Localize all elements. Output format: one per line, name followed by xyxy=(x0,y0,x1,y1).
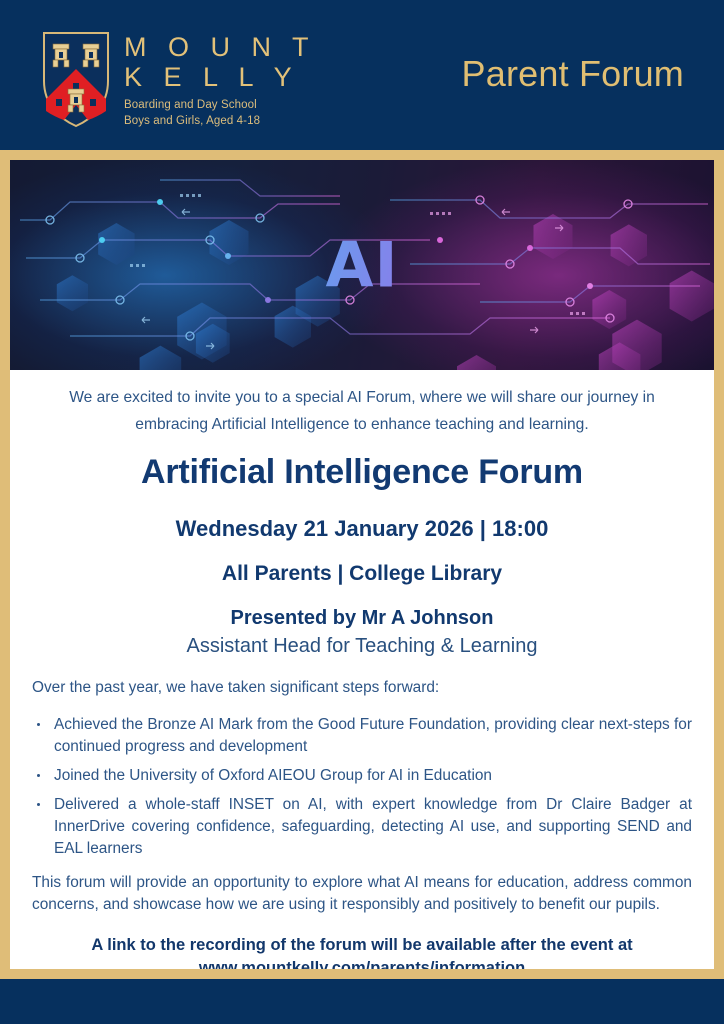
content-card: AI We are excited to invite you to a spe… xyxy=(10,160,714,969)
event-audience-venue: All Parents | College Library xyxy=(32,560,692,587)
list-item: Joined the University of Oxford AIEOU Gr… xyxy=(32,765,692,787)
event-presenter: Presented by Mr A Johnson xyxy=(32,605,692,631)
event-presenter-role: Assistant Head for Teaching & Learning xyxy=(32,633,692,659)
wordmark-tagline-2: Boys and Girls, Aged 4-18 xyxy=(124,114,316,129)
poster: M O U N T K E L L Y Boarding and Day Sch… xyxy=(0,0,724,1024)
page-footer xyxy=(0,979,724,1024)
poster-body: We are excited to invite you to a specia… xyxy=(10,370,714,969)
ai-banner-word: AI xyxy=(10,229,714,302)
closing-paragraph: This forum will provide an opportunity t… xyxy=(32,872,692,916)
intro-paragraph: We are excited to invite you to a specia… xyxy=(38,384,686,438)
event-datetime: Wednesday 21 January 2026 | 18:00 xyxy=(32,515,692,543)
ai-banner-image: AI xyxy=(10,160,714,370)
school-logo: M O U N T K E L L Y Boarding and Day Sch… xyxy=(40,28,316,129)
shield-crest-icon xyxy=(40,29,112,129)
page-header: M O U N T K E L L Y Boarding and Day Sch… xyxy=(0,0,724,150)
wordmark-tagline-1: Boarding and Day School xyxy=(124,98,316,113)
progress-bullet-list: Achieved the Bronze AI Mark from the Goo… xyxy=(32,714,692,860)
gold-frame: AI We are excited to invite you to a spe… xyxy=(0,150,724,979)
event-title: Artificial Intelligence Forum xyxy=(32,452,692,492)
progress-lead-in: Over the past year, we have taken signif… xyxy=(32,677,692,699)
wordmark-line-1: M O U N T xyxy=(124,32,316,62)
recording-link[interactable]: www.mountkelly.com/parents/information xyxy=(199,959,525,969)
list-item: Achieved the Bronze AI Mark from the Goo… xyxy=(32,714,692,758)
recording-note: A link to the recording of the forum wil… xyxy=(32,934,692,969)
school-wordmark: M O U N T K E L L Y Boarding and Day Sch… xyxy=(124,28,316,129)
list-item: Delivered a whole-staff INSET on AI, wit… xyxy=(32,794,692,860)
wordmark-line-2: K E L L Y xyxy=(124,62,316,92)
page-title: Parent Forum xyxy=(462,53,684,95)
recording-note-text: A link to the recording of the forum wil… xyxy=(91,936,632,954)
